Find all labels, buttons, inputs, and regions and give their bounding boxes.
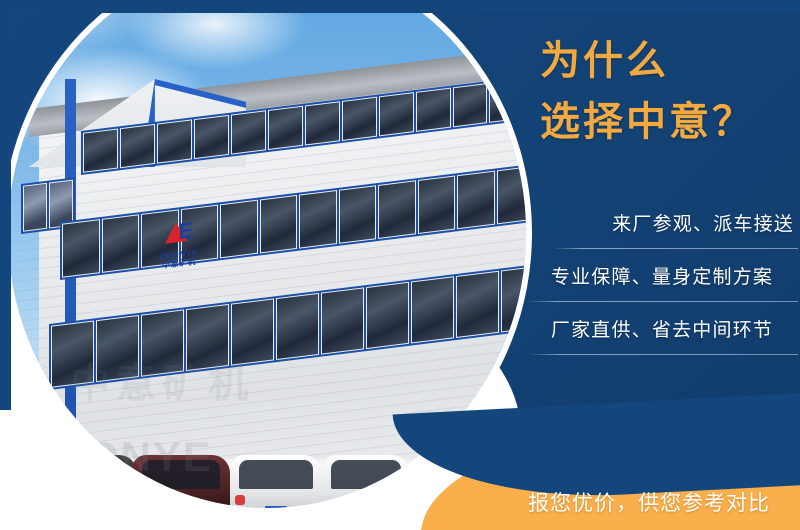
footer-callout-text: 报您优价，供您参考对比 [498, 487, 800, 517]
logo-letter: E [179, 219, 194, 243]
top-edge-strip [0, 0, 800, 13]
feature-list: 来厂参观、派车接送 专业保障、量身定制方案 厂家直供、省去中间环节 [530, 196, 798, 355]
feature-divider-3 [528, 354, 798, 355]
wall-logo: E ZOONYE 中意矿机 [135, 203, 223, 280]
car [322, 455, 410, 508]
feature-item-3: 厂家直供、省去中间环节 [530, 302, 798, 355]
feature-label-2: 专业保障、量身定制方案 [551, 262, 773, 289]
car [230, 455, 323, 508]
car [54, 455, 137, 508]
feature-label-3: 厂家直供、省去中间环节 [551, 315, 773, 342]
car [132, 455, 229, 508]
feature-label-1: 来厂参观、派车接送 [612, 209, 794, 236]
logo-mark-icon: E [165, 212, 194, 252]
headline-line-2: 选择中意？ [540, 99, 790, 146]
feature-item-1: 来厂参观、派车接送 [530, 196, 798, 249]
promo-banner: E ZOONYE 中意矿机 中意矿机 ZOONYE 为什么 选择中意？ 来厂参观… [0, 0, 800, 530]
feature-item-2: 专业保障、量身定制方案 [530, 249, 798, 302]
logo-chinese-text: 中意矿机 [162, 259, 196, 271]
headline-line-1: 为什么 [540, 38, 790, 85]
headline: 为什么 选择中意？ [540, 38, 790, 146]
left-edge-strip [0, 0, 11, 410]
